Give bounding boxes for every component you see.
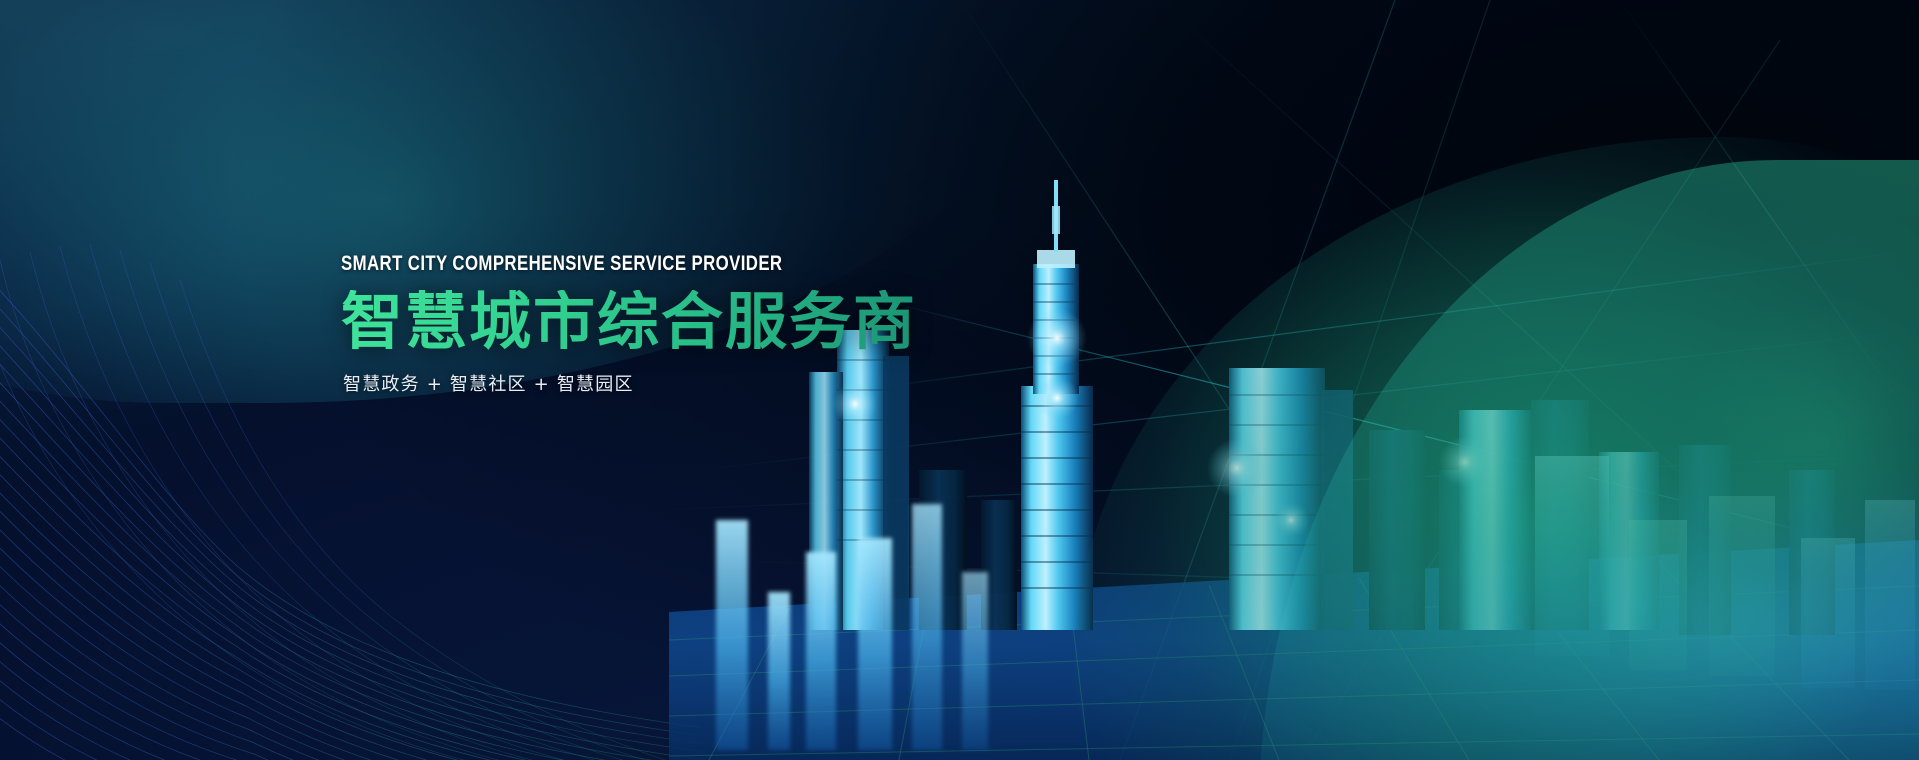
foreground-bars-decoration [690, 460, 1110, 760]
banner-headline: 智慧城市综合服务商 [341, 290, 1041, 354]
banner-subline: 智慧政务 + 智慧社区 + 智慧园区 [343, 370, 1041, 396]
banner-copy-block: SMART CITY COMPREHENSIVE SERVICE PROVIDE… [341, 252, 1041, 396]
smart-city-banner: SMART CITY COMPREHENSIVE SERVICE PROVIDE… [0, 0, 1919, 760]
banner-eyebrow: SMART CITY COMPREHENSIVE SERVICE PROVIDE… [341, 252, 901, 276]
